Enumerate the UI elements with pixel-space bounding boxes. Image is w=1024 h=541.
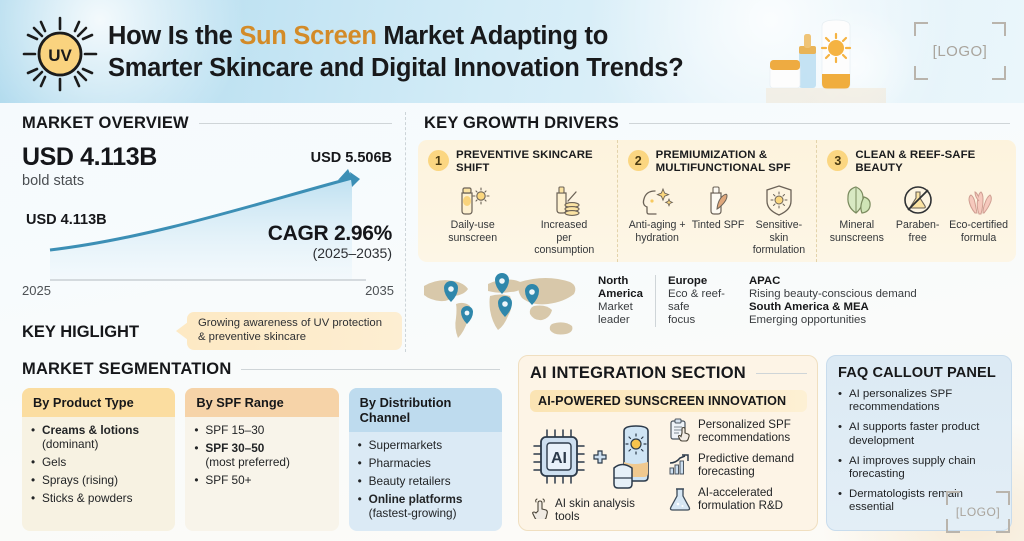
growth-drivers-strip: 1 PREVENTIVE SKINCARE SHIFT (418, 140, 1016, 262)
uv-sun-icon: UV (18, 12, 102, 96)
region-columns: North America Market leader Europe Eco &… (586, 270, 929, 348)
ai-tool-label-1: AI skin analysis (555, 497, 635, 510)
ai-heading: AI INTEGRATION SECTION (530, 364, 807, 383)
sunscreen-tube-icon (443, 182, 503, 218)
region-eu-desc-2: safe (668, 301, 725, 314)
ai-benefit-3-l2: formulation R&D (698, 499, 783, 512)
chart-end-label: USD 5.506B (311, 150, 392, 166)
bullet-icon: • (31, 474, 37, 488)
driver-2-point-3: Sensitive-skin formulation (749, 182, 808, 256)
region-eu-desc-1: Eco & reef- (668, 288, 725, 301)
driver-2-number: 2 (628, 150, 649, 171)
driver-2-point-3-caption: Sensitive-skin formulation (749, 219, 808, 256)
world-map-pins-icon (416, 270, 586, 346)
driver-card-2: 2 PREMIUMIZATION & MULTIFUNCTIONAL SPF A… (617, 140, 817, 262)
sunscreen-products-image (766, 8, 886, 103)
region-north-america: North America Market leader (586, 275, 655, 327)
market-growth-chart: USD 4.113B USD 5.506B CAGR 2.96% (2025–2… (22, 150, 394, 295)
list-item: •Pharmacies (358, 457, 494, 471)
header-banner: UV How Is the Sun Screen Market Adapting… (0, 0, 1024, 103)
title-line-2: Smarter Skincare and Digital Innovation … (108, 52, 808, 84)
bullet-icon: • (358, 493, 364, 520)
faq-title: FAQ CALLOUT PANEL (838, 365, 1001, 381)
driver-1-point-1-caption: Daily-use sunscreen (443, 219, 503, 244)
seg-3-item-4-bold: Online platforms (369, 492, 463, 506)
heading-rule (756, 373, 807, 374)
region-sa-mea-desc: Emerging opportunities (749, 314, 917, 327)
list-item: •Beauty retailers (358, 475, 494, 489)
shield-sun-icon (749, 182, 808, 218)
ai-benefit-row-1: Personalized SPFrecommendations (668, 418, 807, 445)
faq-item-1: AI personalizes SPF recommendations (849, 388, 1001, 414)
hand-touch-icon (530, 497, 550, 519)
driver-3-title: CLEAN & REEF-SAFE BEAUTY (855, 149, 1008, 175)
driver-1-title: PREVENTIVE SKINCARE SHIFT (456, 149, 609, 175)
ai-benefit-2-l1: Predictive demand (698, 452, 794, 465)
bullet-icon: • (358, 457, 364, 471)
header-logo-placeholder: [LOGO] (914, 22, 1006, 80)
driver-2-point-1-caption: Anti-aging + hydration (628, 219, 687, 244)
bullet-icon: • (838, 488, 844, 514)
faq-item-2: AI supports faster product development (849, 421, 1001, 447)
driver-3-point-2: Paraben-free (888, 182, 947, 244)
region-na-name-1: North (598, 275, 643, 288)
list-item: •Supermarkets (358, 439, 494, 453)
segment-card-distribution-channel: By Distribution Channel •Supermarkets •P… (349, 388, 502, 531)
infographic-page: UV How Is the Sun Screen Market Adapting… (0, 0, 1024, 541)
driver-2-point-1: Anti-aging + hydration (628, 182, 687, 256)
heading-rule (629, 123, 1010, 124)
ai-benefit-1-l2: recommendations (698, 431, 790, 444)
segment-card-spf-range: By SPF Range •SPF 15–30 •SPF 30–50(most … (185, 388, 338, 531)
seg-2-item-3: SPF 50+ (205, 474, 251, 488)
plus-icon (593, 445, 607, 469)
faq-item: •AI supports faster product development (838, 421, 1001, 447)
driver-3-point-3: Eco-certified formula (949, 182, 1008, 244)
list-item: •Sprays (rising) (31, 474, 167, 488)
ai-benefit-3-l1: AI-accelerated (698, 486, 773, 499)
driver-3-point-1: Mineral sunscreens (827, 182, 886, 244)
region-na-name-2: America (598, 288, 643, 301)
title-highlight: Sun Screen (239, 22, 376, 50)
ai-tool-row: AI skin analysistools (530, 497, 662, 524)
list-item: •SPF 15–30 (194, 424, 330, 438)
uv-badge-text: UV (48, 46, 72, 65)
driver-2-point-2: Tinted SPF (689, 182, 748, 256)
faq-item: •AI personalizes SPF recommendations (838, 388, 1001, 414)
growth-drivers-title: KEY GROWTH DRIVERS (424, 114, 619, 133)
seg-2-item-2-bold: SPF 30–50 (205, 441, 264, 455)
ai-chip-icon: AI (530, 424, 590, 490)
x-tick-start: 2025 (22, 283, 51, 298)
page-title: How Is the Sun Screen Market Adapting to… (108, 20, 808, 84)
driver-3-point-3-caption: Eco-certified formula (949, 219, 1008, 244)
bullet-icon: • (31, 492, 37, 506)
market-overview-heading: MARKET OVERVIEW (22, 114, 392, 133)
footer-logo-placeholder: [LOGO] (946, 491, 1010, 533)
seg-1-item-1-rest: (dominant) (42, 437, 98, 451)
driver-2-title: PREMIUMIZATION & MULTIFUNCTIONAL SPF (656, 149, 809, 175)
segmentation-title: MARKET SEGMENTATION (22, 360, 231, 379)
bullet-icon: • (194, 424, 200, 438)
ai-benefit-row-3: AI-acceleratedformulation R&D (668, 486, 807, 513)
seg-2-item-2-rest: (most preferred) (205, 455, 290, 469)
segment-card-2-title: By SPF Range (185, 388, 338, 417)
driver-2-point-2-caption: Tinted SPF (689, 219, 748, 231)
driver-3-point-1-caption: Mineral sunscreens (827, 219, 886, 244)
coral-icon (949, 182, 1008, 218)
list-item: •Creams & lotions(dominant) (31, 424, 167, 451)
list-item: •SPF 30–50(most preferred) (194, 442, 330, 469)
bullet-icon: • (838, 455, 844, 481)
seg-1-item-4: Sticks & powders (42, 492, 132, 506)
faq-item-3: AI improves supply chain forecasting (849, 455, 1001, 481)
bullet-icon: • (194, 442, 200, 469)
no-flask-icon (888, 182, 947, 218)
seg-1-item-1-bold: Creams & lotions (42, 423, 139, 437)
key-highlight-line-2: & preventive skincare (198, 331, 393, 345)
driver-1-point-1: Daily-use sunscreen (443, 182, 503, 256)
list-item: •Sticks & powders (31, 492, 167, 506)
clipboard-hand-icon (668, 418, 692, 444)
bullet-icon: • (838, 421, 844, 447)
faq-item: •AI improves supply chain forecasting (838, 455, 1001, 481)
chart-growth-icon (668, 452, 692, 476)
seg-1-item-3: Sprays (rising) (42, 474, 118, 488)
column-divider (405, 112, 406, 352)
ai-integration-section: AI INTEGRATION SECTION AI-POWERED SUNSCR… (518, 355, 818, 531)
regional-insights-section: North America Market leader Europe Eco &… (416, 270, 1016, 348)
leaf-icon (827, 182, 886, 218)
bullet-icon: • (838, 388, 844, 414)
cagr-value: CAGR 2.96% (268, 222, 392, 246)
region-eu-desc-3: focus (668, 314, 725, 327)
footer-logo-text: [LOGO] (946, 491, 1010, 533)
growth-drivers-section: KEY GROWTH DRIVERS (424, 114, 1010, 133)
region-apac: APAC Rising beauty-conscious demand Sout… (737, 275, 929, 327)
driver-3-point-2-caption: Paraben-free (888, 219, 947, 244)
ai-visual-group: AI (530, 418, 662, 496)
seg-3-item-2: Pharmacies (369, 457, 431, 471)
heading-rule (241, 369, 500, 370)
ai-benefit-row-2: Predictive demandforecasting (668, 452, 807, 479)
region-eu-name: Europe (668, 275, 725, 288)
chart-start-label: USD 4.113B (26, 212, 107, 228)
seg-3-item-4-rest: (fastest-growing) (369, 506, 457, 520)
x-tick-end: 2035 (365, 283, 394, 298)
heading-rule (199, 123, 392, 124)
header-logo-text: [LOGO] (914, 22, 1006, 80)
segment-card-1-title: By Product Type (22, 388, 175, 417)
region-apac-desc: Rising beauty-conscious demand (749, 288, 917, 301)
ai-benefits-list: Personalized SPFrecommendations Predicti… (662, 418, 807, 524)
title-line-1: How Is the Sun Screen Market Adapting to (108, 20, 808, 52)
key-highlight-callout: KEY HIGLIGHT Growing awareness of UV pro… (22, 312, 402, 352)
driver-1-number: 1 (428, 150, 449, 171)
chart-x-axis-ticks: 2025 2035 (22, 283, 394, 298)
list-item: •SPF 50+ (194, 474, 330, 488)
seg-2-item-1: SPF 15–30 (205, 424, 264, 438)
flask-icon (668, 486, 692, 512)
driver-3-number: 3 (827, 150, 848, 171)
segmentation-heading: MARKET SEGMENTATION (22, 360, 500, 379)
seg-3-item-1: Supermarkets (369, 439, 442, 453)
ai-chip-label: AI (551, 450, 567, 467)
bullet-icon: • (358, 439, 364, 453)
region-apac-name: APAC (749, 275, 917, 288)
ai-section-title: AI INTEGRATION SECTION (530, 364, 746, 383)
list-item: •Online platforms(fastest-growing) (358, 493, 494, 520)
face-sparkle-icon (628, 182, 687, 218)
bullet-icon: • (31, 424, 37, 451)
ai-benefit-2-l2: forecasting (698, 465, 755, 478)
driver-card-1: 1 PREVENTIVE SKINCARE SHIFT (418, 140, 617, 262)
driver-card-3: 3 CLEAN & REEF-SAFE BEAUTY Mineral sunsc… (816, 140, 1016, 262)
bullet-icon: • (358, 475, 364, 489)
key-highlight-label: KEY HIGLIGHT (22, 323, 139, 342)
bullet-icon: • (194, 474, 200, 488)
region-na-desc-1: Market (598, 301, 643, 314)
region-europe: Europe Eco & reef- safe focus (655, 275, 737, 327)
seg-3-item-3: Beauty retailers (369, 475, 451, 489)
title-pre: How Is the (108, 22, 239, 50)
segment-card-product-type: By Product Type •Creams & lotions(domina… (22, 388, 175, 531)
driver-1-point-2-caption: Increased per consumption (534, 219, 594, 256)
cagr-range: (2025–2035) (268, 245, 392, 261)
region-na-desc-2: leader (598, 314, 643, 327)
tinted-bottle-icon (689, 182, 748, 218)
market-segmentation-section: MARKET SEGMENTATION (22, 360, 500, 379)
region-sa-mea-name: South America & MEA (749, 301, 917, 314)
seg-1-item-2: Gels (42, 456, 66, 470)
chart-cagr-annotation: CAGR 2.96% (2025–2035) (268, 222, 392, 261)
key-highlight-bubble: Growing awareness of UV protection & pre… (187, 312, 402, 350)
segmentation-cards: By Product Type •Creams & lotions(domina… (22, 388, 502, 531)
key-highlight-line-1: Growing awareness of UV protection (198, 317, 393, 331)
ai-tool-label-2: tools (555, 510, 580, 523)
segment-card-3-title: By Distribution Channel (349, 388, 502, 432)
title-post: Market Adapting to (377, 22, 608, 50)
market-overview-title: MARKET OVERVIEW (22, 114, 189, 133)
driver-1-point-2: Increased per consumption (534, 182, 594, 256)
bottle-coins-icon (534, 182, 594, 218)
ai-benefit-1-l1: Personalized SPF (698, 418, 791, 431)
sunscreen-product-icon (610, 422, 658, 492)
ai-banner: AI-POWERED SUNSCREEN INNOVATION (530, 390, 807, 412)
list-item: •Gels (31, 456, 167, 470)
growth-drivers-heading: KEY GROWTH DRIVERS (424, 114, 1010, 133)
bullet-icon: • (31, 456, 37, 470)
